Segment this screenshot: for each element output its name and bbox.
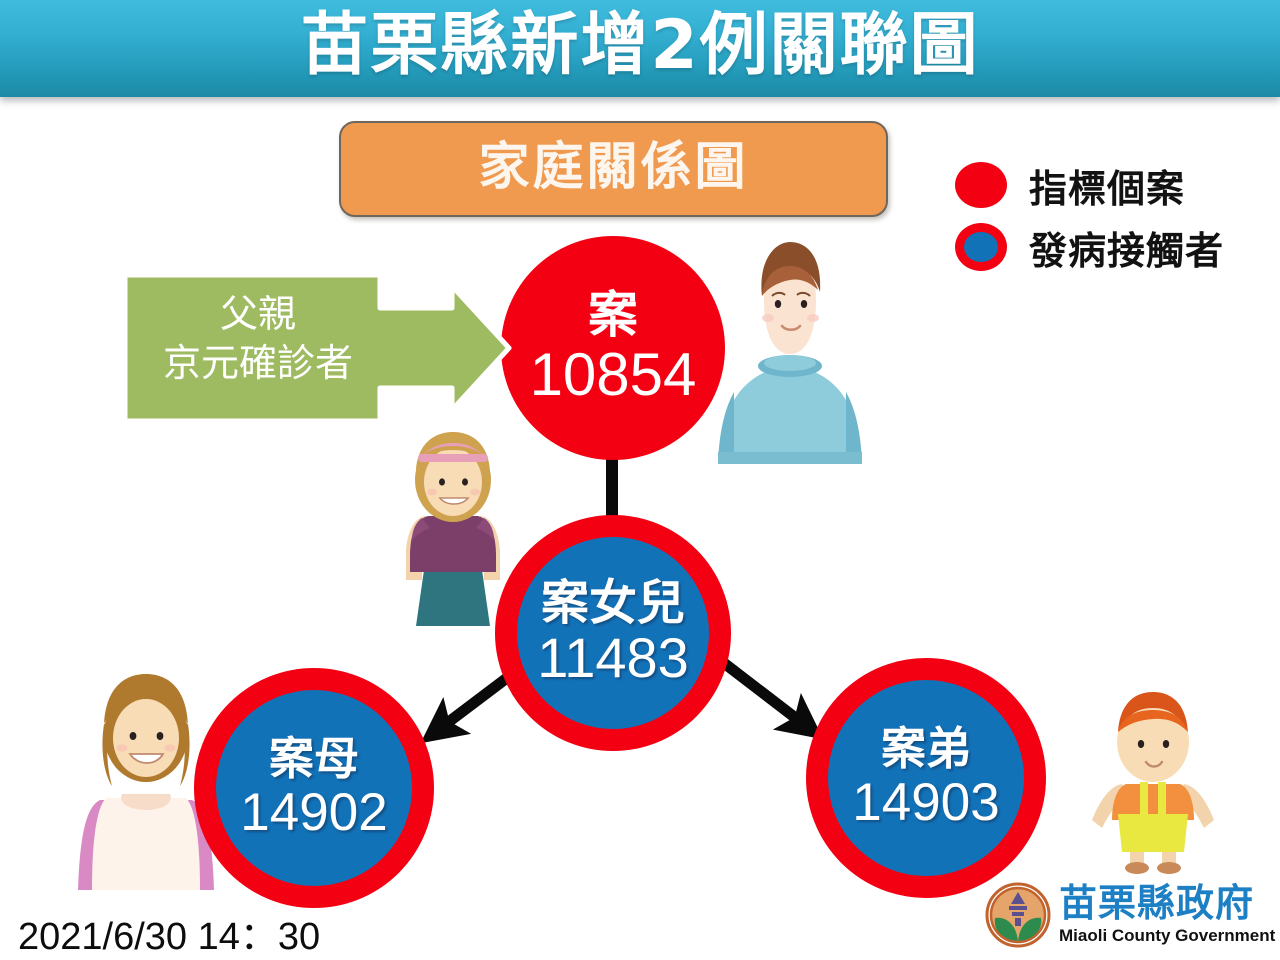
case-node-14903[interactable]: 案弟 14903 bbox=[806, 658, 1046, 898]
father-callout: 父親 京元確診者 bbox=[122, 272, 512, 424]
connector-arrow-daughter-to-brother bbox=[720, 660, 806, 726]
legend-item-label: 發病接觸者 bbox=[1029, 220, 1224, 275]
case-node-label: 案 bbox=[588, 290, 638, 342]
case-node-14902[interactable]: 案母 14902 bbox=[194, 668, 434, 908]
logo-text-zh: 苗栗縣政府 bbox=[1059, 884, 1275, 922]
section-title-pill: 家庭關係圖 bbox=[339, 121, 888, 217]
case-node-label: 案母 bbox=[269, 736, 359, 782]
case-node-11483[interactable]: 案女兒 11483 bbox=[495, 515, 731, 751]
page-title: 苗栗縣新增2例關聯圖 bbox=[0, 0, 1280, 97]
header-banner: 苗栗縣新增2例關聯圖 bbox=[0, 0, 1280, 97]
legend-item-contact: 發病接觸者 bbox=[955, 220, 1275, 274]
county-emblem-icon bbox=[985, 882, 1051, 948]
green-arrow-shape bbox=[122, 272, 512, 424]
logo-text-group: 苗栗縣政府 Miaoli County Government bbox=[1059, 884, 1275, 946]
case-node-number: 10854 bbox=[530, 344, 697, 406]
red-solid-circle-icon bbox=[955, 162, 1007, 208]
case-node-number: 14902 bbox=[240, 785, 387, 840]
infographic-canvas: 苗栗縣新增2例關聯圖 家庭關係圖 指標個案 發病接觸者 bbox=[0, 0, 1280, 960]
case-node-number: 11483 bbox=[537, 629, 689, 687]
legend-item-index-case: 指標個案 bbox=[955, 158, 1275, 212]
case-node-number: 14903 bbox=[852, 775, 999, 830]
red-ring-blue-circle-icon bbox=[955, 223, 1007, 271]
legend: 指標個案 發病接觸者 bbox=[955, 158, 1275, 282]
case-node-label: 案弟 bbox=[881, 726, 971, 772]
section-title-label: 家庭關係圖 bbox=[341, 123, 886, 215]
timestamp: 2021/6/30 14：30 bbox=[18, 905, 320, 960]
miaoli-county-government-logo: 苗栗縣政府 Miaoli County Government bbox=[985, 878, 1275, 952]
case-node-10854[interactable]: 案 10854 bbox=[501, 236, 725, 460]
legend-item-label: 指標個案 bbox=[1029, 158, 1185, 213]
case-node-label: 案女兒 bbox=[541, 579, 685, 628]
logo-text-en: Miaoli County Government bbox=[1059, 925, 1275, 946]
